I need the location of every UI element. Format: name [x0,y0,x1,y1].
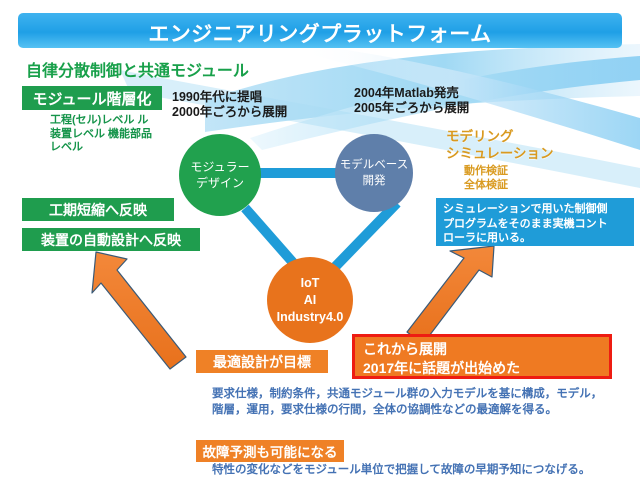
paragraph-fault-prediction: 特性の変化などをモジュール単位で把握して故障の早期予知につなげる。 [212,462,590,478]
subtitle: 自律分散制御と共通モジュール [26,57,249,81]
callout-future-deployment: これから展開 2017年に話題が出始めた [352,334,612,379]
label-fault-prediction: 故障予測も可能になる [196,440,344,462]
page-title: エンジニアリングプラットフォーム [18,18,622,48]
label-optimal-design-goal: 最適設計が目標 [196,350,328,373]
callout-simulation-reuse: シミュレーションで用いた制御側 プログラムをそのまま実機コント ローラに用いる。 [436,198,634,246]
right-feedback-arrow [407,246,494,344]
slide-canvas: エンジニアリングプラットフォーム 自律分散制御と共通モジュール モジュール階層化… [0,0,640,480]
node-modular-design[interactable]: モジュラー デザイン [179,134,261,216]
node-model-based-development[interactable]: モデルベース 開発 [335,134,413,212]
modeling-simulation-items: 動作検証 全体検証 [464,164,508,192]
module-hierarchy-levels: 工程(セル)レベル ル 装置レベル 機能部品レベル [50,114,162,155]
label-lead-time-reduction: 工期短縮へ反映 [22,198,174,221]
left-feedback-arrow [92,252,186,369]
title-banner: エンジニアリングプラットフォーム [18,13,622,48]
label-module-hierarchy: モジュール階層化 [22,86,162,110]
paragraph-optimal-design: 要求仕様，制約条件，共通モジュール群の入力モデルを基に構成，モデル， 階層，運用… [212,386,602,418]
heading-modeling-simulation: モデリング シミュレーション [446,128,553,162]
node-iot-ai-industry40[interactable]: IoT AI Industry4.0 [267,257,353,343]
label-auto-equipment-design: 装置の自動設計へ反映 [22,228,200,251]
timeline-note-left: 1990年代に提唱 2000年ごろから展開 [172,90,287,120]
timeline-note-right: 2004年Matlab発売 2005年ごろから展開 [354,86,469,116]
